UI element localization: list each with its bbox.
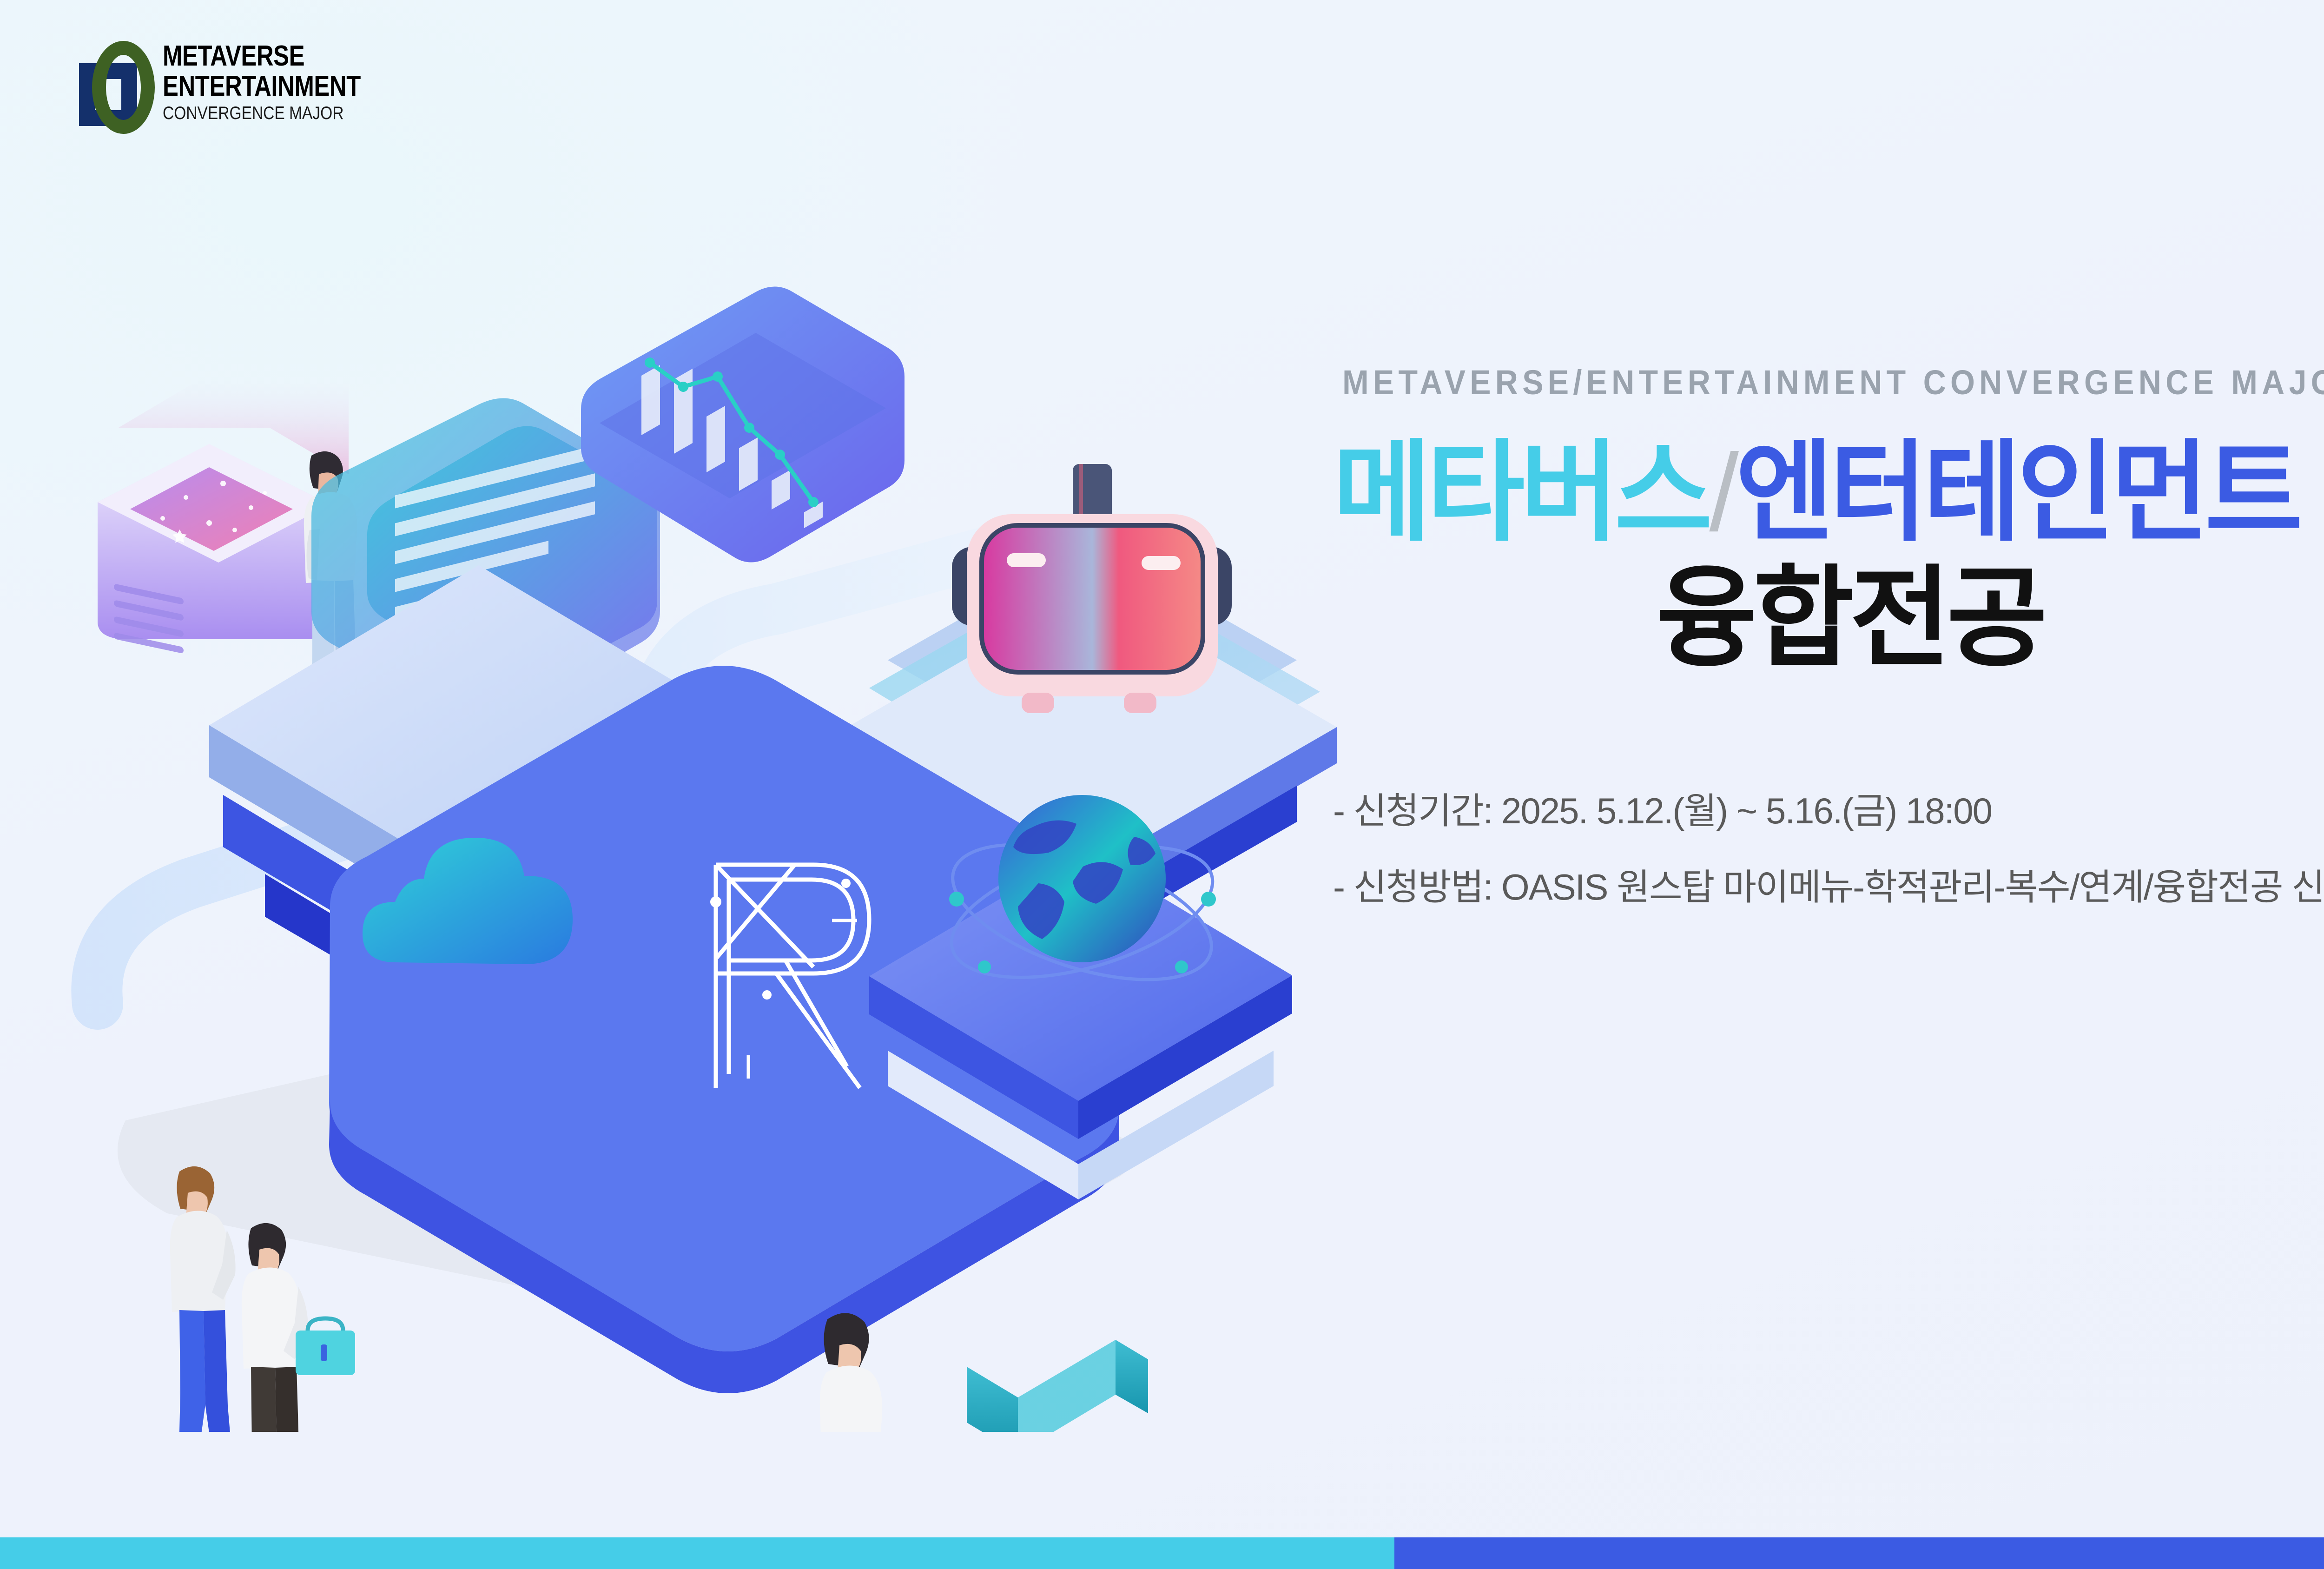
detail-application-method: - 신청방법: OASIS 원스탑 마이메뉴-학적관리-복수/연계/융합전공 신… [1333, 867, 2324, 907]
footer-bar-cyan [0, 1537, 1394, 1569]
headline-metaverse: 메타버스 [1333, 431, 1709, 554]
detail-application-period: - 신청기간: 2025. 5.12.(월) ~ 5.16.(금) 18:00 [1333, 791, 2324, 831]
page-title: 메타버스/엔터테인먼트 융합전공 [1311, 435, 2324, 679]
poster-root: METAVERSE ENTERTAINMENT CONVERGENCE MAJO… [0, 0, 2324, 1569]
details-list: - 신청기간: 2025. 5.12.(월) ~ 5.16.(금) 18:00 … [1333, 791, 2324, 907]
brand-line3: CONVERGENCE MAJOR [163, 102, 410, 125]
headline-row-2: 융합전공 [1311, 557, 2324, 679]
headline-slash: / [1709, 431, 1736, 554]
brand-logo: METAVERSE ENTERTAINMENT CONVERGENCE MAJO… [51, 32, 451, 152]
isometric-illustration [70, 177, 1353, 1432]
eyebrow-text: METAVERSE/ENTERTAINMENT CONVERGENCE MAJO… [1342, 363, 2324, 402]
headline-entertainment: 엔터테인먼트 [1736, 431, 2298, 554]
footer-bar-blue [1394, 1537, 2324, 1569]
brand-logo-mark [51, 36, 167, 143]
footer-bar [0, 1537, 2324, 1569]
vr-headset-icon [952, 464, 1232, 713]
brand-line2: ENTERTAINMENT [163, 71, 399, 102]
brand-oval-icon [92, 41, 155, 134]
content-column: METAVERSE/ENTERTAINMENT CONVERGENCE MAJO… [1311, 363, 2324, 943]
brand-logo-text: METAVERSE ENTERTAINMENT CONVERGENCE MAJO… [163, 42, 451, 125]
arrow-3d-up-right [967, 1340, 1353, 1432]
brand-line1: METAVERSE [163, 42, 399, 71]
headline-row-1: 메타버스/엔터테인먼트 [1333, 435, 2324, 551]
